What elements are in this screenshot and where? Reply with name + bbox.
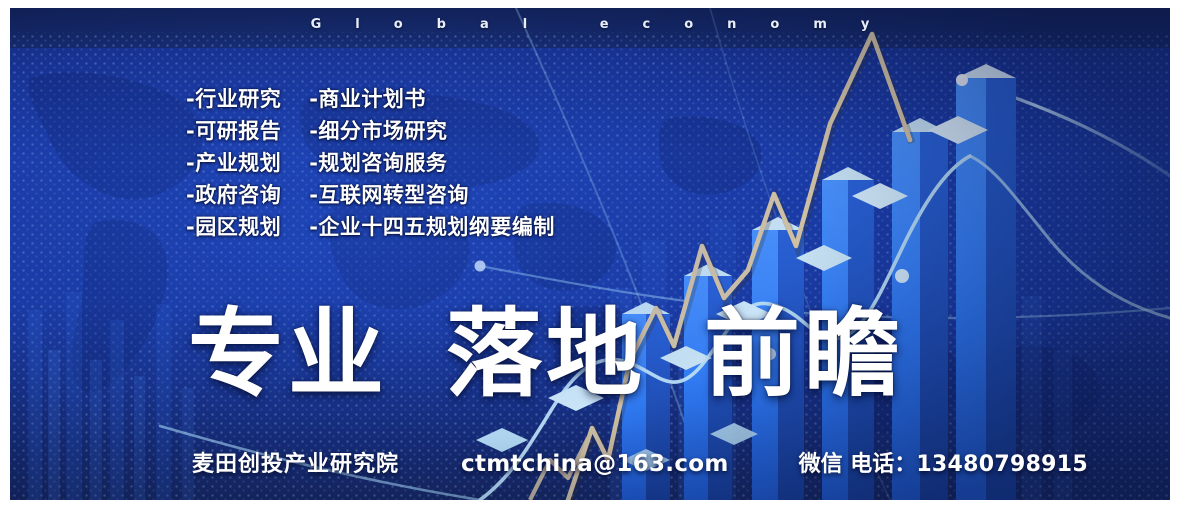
- service-item: -产业规划: [186, 150, 281, 176]
- service-item: -细分市场研究: [309, 118, 555, 144]
- email-address[interactable]: ctmtchina@163.com: [461, 451, 729, 477]
- headline-word-1: 专业: [188, 304, 388, 404]
- vignette-overlay: [10, 8, 1170, 500]
- service-item: -企业十四五规划纲要编制: [309, 214, 555, 240]
- service-item: -规划咨询服务: [309, 150, 555, 176]
- headline-word-2: 落地: [446, 304, 646, 404]
- service-item: -政府咨询: [186, 182, 281, 208]
- banner-root: Global economy -行业研究 -可研报告 -产业规划 -政府咨询 -…: [10, 8, 1170, 500]
- service-item: -园区规划: [186, 214, 281, 240]
- header-word: Global economy: [10, 10, 1170, 40]
- services-column-left: -行业研究 -可研报告 -产业规划 -政府咨询 -园区规划: [186, 86, 281, 240]
- service-item: -互联网转型咨询: [309, 182, 555, 208]
- services-column-right: -商业计划书 -细分市场研究 -规划咨询服务 -互联网转型咨询 -企业十四五规划…: [309, 86, 555, 240]
- organization-name: 麦田创投产业研究院: [192, 446, 399, 478]
- headline-word-3: 前瞻: [704, 304, 904, 404]
- footer-contact: 麦田创投产业研究院 ctmtchina@163.com 微信 电话： 13480…: [192, 446, 1088, 478]
- wechat-phone-label: 微信 电话：: [799, 446, 917, 478]
- service-item: -商业计划书: [309, 86, 555, 112]
- service-item: -可研报告: [186, 118, 281, 144]
- headline: 专业 落地 前瞻: [188, 304, 1048, 404]
- service-item: -行业研究: [186, 86, 281, 112]
- services-lists: -行业研究 -可研报告 -产业规划 -政府咨询 -园区规划 -商业计划书 -细分…: [186, 86, 555, 240]
- phone-number[interactable]: 13480798915: [916, 452, 1088, 477]
